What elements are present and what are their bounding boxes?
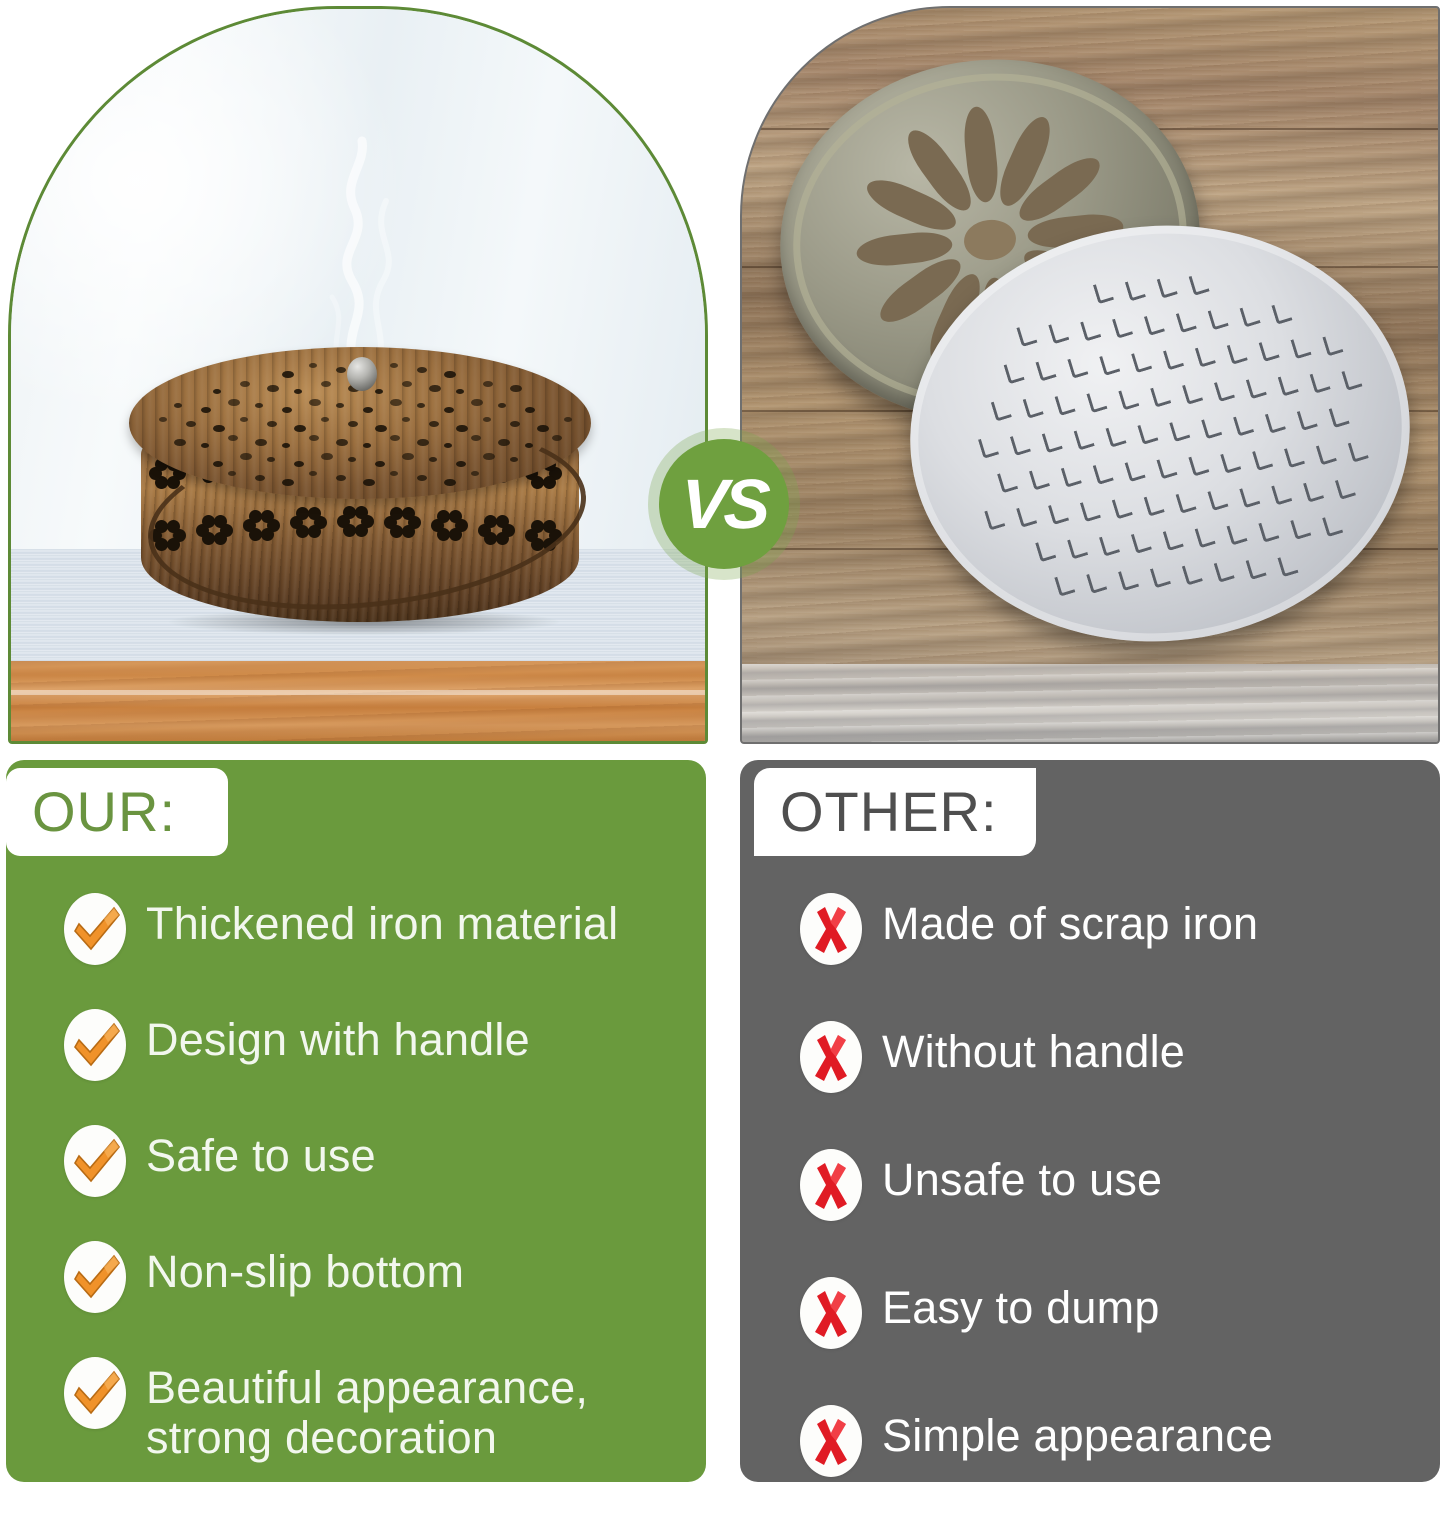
feature-label: Thickened iron material: [146, 893, 618, 949]
lid-perforation: [267, 421, 277, 427]
base-spike: [1086, 570, 1107, 594]
lid-perforation: [240, 381, 250, 387]
metal-surface-strip: [742, 664, 1438, 742]
our-feature-list: Thickened iron materialDesign with handl…: [64, 893, 684, 1508]
base-spike: [1278, 373, 1299, 397]
comparison-panels: OUR: Thickened iron materialDesign with …: [0, 760, 1445, 1489]
base-spike: [997, 470, 1018, 494]
base-spike: [991, 398, 1012, 422]
vs-badge-circle: VS: [659, 439, 789, 569]
other-feature-list: Made of scrap ironWithout handleUnsafe t…: [800, 893, 1418, 1533]
base-spike: [1195, 344, 1216, 368]
lid-perforation: [471, 399, 483, 406]
base-spike: [1055, 392, 1076, 416]
base-spike: [1169, 418, 1190, 442]
base-spike: [1093, 461, 1114, 485]
lid-perforation: [510, 385, 522, 392]
lid-perforation: [510, 421, 520, 427]
base-spike: [1131, 349, 1152, 373]
base-spike: [1201, 416, 1222, 440]
base-spike: [1131, 530, 1152, 554]
base-spike: [1297, 407, 1318, 431]
base-spike: [1125, 278, 1146, 302]
base-spike: [1099, 352, 1120, 376]
lid-perforation: [537, 425, 549, 432]
base-spike: [1182, 562, 1203, 586]
feature-row: Simple appearance: [800, 1405, 1418, 1477]
base-spike: [1144, 312, 1165, 336]
base-spike: [1271, 482, 1292, 506]
feature-row: Design with handle: [64, 1009, 684, 1081]
base-spike: [984, 507, 1005, 531]
base-spike: [1335, 476, 1356, 500]
feature-row: Unsafe to use: [800, 1149, 1418, 1221]
check-icon: [64, 893, 126, 965]
lid-perforation: [228, 435, 238, 441]
lid-perforation: [417, 367, 427, 373]
lid-perforation: [444, 407, 454, 413]
base-spike: [1093, 280, 1114, 304]
base-spike: [1035, 539, 1056, 563]
base-spike: [1042, 430, 1063, 454]
base-spike: [1290, 516, 1311, 540]
other-badge-label: OTHER:: [780, 784, 998, 840]
base-spike: [1239, 485, 1260, 509]
base-spike: [1303, 479, 1324, 503]
base-spike: [1208, 307, 1229, 331]
lid-perforation: [402, 381, 412, 387]
base-spike: [1099, 533, 1120, 557]
lid-perforation: [321, 381, 331, 387]
base-spike: [1214, 559, 1235, 583]
base-spike: [1341, 367, 1362, 391]
feature-label: Unsafe to use: [882, 1149, 1162, 1205]
feature-row: Non-slip bottom: [64, 1241, 684, 1313]
base-spike: [1290, 335, 1311, 359]
base-spike: [1214, 378, 1235, 402]
lid-perforation: [309, 399, 321, 406]
base-spike: [1067, 355, 1088, 379]
base-spike: [1074, 427, 1095, 451]
base-spike: [1233, 413, 1254, 437]
base-spike: [1348, 439, 1369, 463]
cross-icon: [800, 1277, 862, 1349]
feature-label: Safe to use: [146, 1125, 376, 1181]
base-spike: [1010, 432, 1031, 456]
base-spike: [1163, 347, 1184, 371]
base-spike: [1316, 442, 1337, 466]
vs-badge: VS: [648, 428, 800, 580]
base-spike: [1157, 275, 1178, 299]
base-spike: [1023, 395, 1044, 419]
base-spike: [1105, 424, 1126, 448]
lid-perforation: [213, 425, 225, 432]
lid-perforation: [456, 389, 464, 394]
base-spike: [1188, 453, 1209, 477]
feature-row: Beautiful appearance, strong decoration: [64, 1357, 684, 1464]
base-spike: [1277, 553, 1298, 577]
other-panel: OTHER: Made of scrap ironWithout handleU…: [740, 760, 1440, 1482]
base-spike: [1150, 565, 1171, 589]
check-icon: [64, 1009, 126, 1081]
feature-label: Simple appearance: [882, 1405, 1273, 1461]
base-spike: [1150, 384, 1171, 408]
our-panel: OUR: Thickened iron materialDesign with …: [6, 760, 706, 1482]
lid-perforation: [240, 417, 248, 422]
base-spike: [1329, 404, 1350, 428]
feature-label: Design with handle: [146, 1009, 530, 1065]
bronze-coil-holder: [129, 347, 594, 647]
cross-icon: [800, 1149, 862, 1221]
lid-perforation: [363, 407, 373, 413]
base-spike: [1176, 309, 1197, 333]
lid-perforation: [552, 435, 562, 441]
other-product-photo: [740, 6, 1440, 744]
lid-perforation: [159, 417, 167, 422]
lid-perforation: [483, 417, 491, 422]
base-spike: [1118, 387, 1139, 411]
lid-perforation: [321, 417, 329, 422]
our-badge-label: OUR:: [32, 784, 176, 840]
feature-row: Easy to dump: [800, 1277, 1418, 1349]
check-icon: [64, 1357, 126, 1429]
base-spike: [1207, 487, 1228, 511]
lid-perforation: [429, 385, 441, 392]
wooden-edge: [11, 661, 705, 741]
feature-row: Thickened iron material: [64, 893, 684, 965]
lid-perforation: [228, 399, 240, 406]
base-spike: [1004, 361, 1025, 385]
lid-perforation: [375, 389, 383, 394]
lid-perforation: [525, 407, 535, 413]
base-spike: [1265, 410, 1286, 434]
base-spike: [1080, 498, 1101, 522]
our-product-photo: [8, 6, 708, 744]
base-spike: [1080, 318, 1101, 342]
base-spike: [1086, 389, 1107, 413]
lid-perforation: [336, 367, 346, 373]
lid-perforation: [390, 363, 398, 368]
base-spike: [1137, 421, 1158, 445]
check-icon: [64, 1125, 126, 1197]
base-spike: [1271, 301, 1292, 325]
lid-perforation: [282, 407, 292, 413]
lid-perforation: [186, 421, 196, 427]
cross-icon: [800, 1021, 862, 1093]
feature-row: Made of scrap iron: [800, 893, 1418, 965]
base-spike: [1259, 338, 1280, 362]
base-spike: [1118, 567, 1139, 591]
other-badge: OTHER:: [754, 768, 1036, 856]
lid-perforation: [255, 403, 263, 408]
base-spike: [1240, 304, 1261, 328]
base-spike: [1175, 490, 1196, 514]
lid-perforation: [498, 403, 506, 408]
base-spike: [1054, 573, 1075, 597]
cross-icon: [800, 893, 862, 965]
lid-perforation: [402, 417, 410, 422]
check-icon: [64, 1241, 126, 1313]
lid-perforation: [282, 371, 294, 378]
product-comparison-photos: VS: [0, 0, 1445, 748]
base-spike: [1016, 323, 1037, 347]
base-spike: [1067, 536, 1088, 560]
lid-perforation: [417, 403, 425, 408]
base-spike: [1310, 370, 1331, 394]
base-spike: [1048, 501, 1069, 525]
our-badge: OUR:: [6, 768, 228, 856]
base-spike: [1220, 450, 1241, 474]
base-spike: [1035, 358, 1056, 382]
lid-perforation: [348, 421, 358, 427]
base-spike: [1252, 447, 1273, 471]
feature-label: Non-slip bottom: [146, 1241, 464, 1297]
base-spike: [1156, 456, 1177, 480]
base-spike: [1246, 556, 1267, 580]
lid-perforation: [390, 399, 402, 406]
base-spike: [1163, 527, 1184, 551]
base-spike: [1112, 315, 1133, 339]
lid-perforation: [267, 385, 279, 392]
base-spike: [1125, 458, 1146, 482]
base-spike: [1144, 493, 1165, 517]
lid-perforation: [213, 389, 221, 394]
lid-perforation: [294, 425, 306, 432]
base-spike: [1029, 467, 1050, 491]
feature-label: Beautiful appearance, strong decoration: [146, 1357, 588, 1464]
feature-row: Safe to use: [64, 1125, 684, 1197]
base-spike: [1226, 522, 1247, 546]
base-spike: [1195, 525, 1216, 549]
holder-knob-icon: [347, 357, 377, 391]
base-spike: [1112, 496, 1133, 520]
base-spike: [1258, 519, 1279, 543]
base-spike: [1016, 504, 1037, 528]
base-spike: [1182, 381, 1203, 405]
lid-perforation: [444, 371, 456, 378]
lid-perforation: [309, 363, 317, 368]
base-spike: [1189, 272, 1210, 296]
base-spike: [1061, 464, 1082, 488]
vs-badge-label: VS: [680, 469, 768, 539]
smoke-wisp-icon: [266, 129, 446, 379]
feature-label: Without handle: [882, 1021, 1185, 1077]
base-spike: [1048, 321, 1069, 345]
base-spike: [1322, 513, 1343, 537]
feature-label: Easy to dump: [882, 1277, 1160, 1333]
base-spike: [978, 435, 999, 459]
base-spike: [1322, 333, 1343, 357]
cross-icon: [800, 1405, 862, 1477]
base-spike: [1284, 444, 1305, 468]
base-spike: [1227, 341, 1248, 365]
lid-perforation: [336, 403, 344, 408]
lid-perforation: [564, 417, 572, 422]
lid-perforation: [201, 407, 211, 413]
lid-perforation: [174, 439, 186, 446]
lid-perforation: [174, 403, 182, 408]
base-spike: [1246, 376, 1267, 400]
feature-row: Without handle: [800, 1021, 1418, 1093]
lid-perforation: [483, 381, 493, 387]
lid-perforation: [201, 443, 209, 448]
feature-label: Made of scrap iron: [882, 893, 1258, 949]
lid-perforation: [294, 389, 302, 394]
